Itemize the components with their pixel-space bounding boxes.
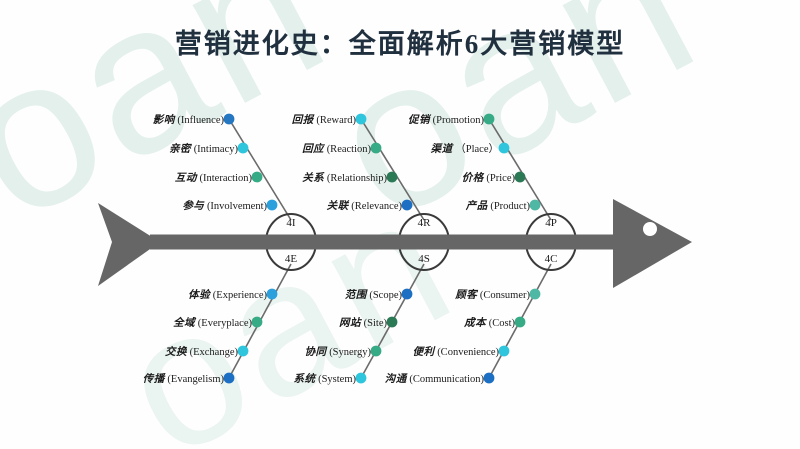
branch-label-en: （Place） — [453, 144, 499, 155]
branch-label-en: (Intimacy) — [191, 144, 238, 155]
branch-dot — [515, 317, 526, 328]
branch-dot — [499, 143, 510, 154]
branch-dot — [371, 346, 382, 357]
branch-label-cn: 产品 — [466, 201, 488, 212]
branch-dot — [267, 289, 278, 300]
node-label-bottom: 4S — [404, 253, 444, 265]
branch-label-en: (Evangelism) — [165, 374, 224, 385]
branch-dot — [224, 114, 235, 125]
node-label-top: 4P — [531, 217, 571, 229]
branch-label-cn: 参与 — [182, 201, 204, 212]
branch-label-en: (Scope) — [367, 290, 402, 301]
branch-dot — [515, 172, 526, 183]
branch-label-en: (Synergy) — [327, 347, 371, 358]
branch-dot — [224, 373, 235, 384]
branch-label-en: (Product) — [488, 201, 530, 212]
branch-label-cn: 互动 — [175, 173, 197, 184]
branch-label: 沟通 (Communication) — [385, 371, 484, 386]
branch-dot — [484, 373, 495, 384]
branch-label-cn: 范围 — [345, 290, 367, 301]
branch-dot — [402, 289, 413, 300]
branch-label-en: (Consumer) — [477, 290, 530, 301]
branch-label-en: (Site) — [361, 318, 387, 329]
branch-label: 系统 (System) — [293, 371, 356, 386]
branch-dot — [238, 143, 249, 154]
node-label-top: 4R — [404, 217, 444, 229]
branch-label-cn: 系统 — [293, 374, 315, 385]
branch-label-en: (Communication) — [407, 374, 484, 385]
branch-label-en: (Interaction) — [197, 173, 252, 184]
branch-label-en: (Reaction) — [324, 144, 371, 155]
fish-head-arrow-icon — [613, 199, 692, 288]
branch-dot — [356, 114, 367, 125]
branch-label-cn: 回报 — [292, 115, 314, 126]
branch-dot — [402, 200, 413, 211]
branch-label-cn: 交换 — [165, 347, 187, 358]
branch-dot — [499, 346, 510, 357]
branch-label: 产品 (Product) — [466, 198, 530, 213]
branch-label-cn: 网站 — [339, 318, 361, 329]
branch-dot — [267, 200, 278, 211]
branch-label: 顾客 (Consumer) — [455, 287, 530, 302]
node-label-bottom: 4C — [531, 253, 571, 265]
branch-label: 范围 (Scope) — [345, 287, 402, 302]
branch-label-cn: 价格 — [462, 173, 484, 184]
branch-label: 影响 (Influence) — [153, 112, 224, 127]
branch-label: 全域 (Everyplace) — [173, 315, 252, 330]
branch-dot — [530, 289, 541, 300]
branch-label: 回报 (Reward) — [292, 112, 356, 127]
branch-label-cn: 关系 — [302, 173, 324, 184]
branch-label-cn: 关联 — [327, 201, 349, 212]
branch-dot — [371, 143, 382, 154]
branch-label-cn: 传播 — [143, 374, 165, 385]
branch-label: 参与 (Involvement) — [182, 198, 267, 213]
branch-label: 成本 (Cost) — [464, 315, 515, 330]
branch-label-cn: 回应 — [302, 144, 324, 155]
branch-dot — [530, 200, 541, 211]
branch-label: 促销 (Promotion) — [408, 112, 484, 127]
branch-label-cn: 协同 — [305, 347, 327, 358]
branch-label: 价格 (Price) — [462, 170, 515, 185]
branch-label-cn: 渠道 — [431, 144, 453, 155]
branch-label-en: (Relevance) — [349, 201, 402, 212]
branch-label-en: (Promotion) — [430, 115, 484, 126]
branch-dot — [356, 373, 367, 384]
branch-label-en: (Relationship) — [324, 173, 387, 184]
branch-label-cn: 体验 — [188, 290, 210, 301]
page-title: 营销进化史：全面解析6大营销模型 — [0, 22, 800, 61]
branch-label: 互动 (Interaction) — [175, 170, 252, 185]
branch-label: 关系 (Relationship) — [302, 170, 387, 185]
branch-label-en: (Convenience) — [435, 347, 499, 358]
branch-label: 网站 (Site) — [339, 315, 387, 330]
branch-label-en: (Cost) — [486, 318, 515, 329]
branch-label: 传播 (Evangelism) — [143, 371, 224, 386]
branch-label: 亲密 (Intimacy) — [169, 141, 238, 156]
branch-label-en: (Experience) — [210, 290, 267, 301]
branch-label-cn: 成本 — [464, 318, 486, 329]
branch-label-en: (Everyplace) — [195, 318, 252, 329]
branch-dot — [387, 317, 398, 328]
branch-label: 交换 (Exchange) — [165, 344, 238, 359]
branch-label-en: (Influence) — [175, 115, 224, 126]
node-label-bottom: 4E — [271, 253, 311, 265]
branch-label-en: (Reward) — [314, 115, 356, 126]
branch-label: 关联 (Relevance) — [327, 198, 402, 213]
branch-dot — [387, 172, 398, 183]
branch-dot — [238, 346, 249, 357]
spine-bar-overlay — [150, 235, 620, 250]
branch-label: 回应 (Reaction) — [302, 141, 371, 156]
branch-label: 体验 (Experience) — [188, 287, 267, 302]
branch-label-cn: 亲密 — [169, 144, 191, 155]
branch-dot — [252, 317, 263, 328]
fish-eye-icon — [643, 222, 657, 236]
branch-label-en: (Exchange) — [187, 347, 238, 358]
branch-label: 便利 (Convenience) — [413, 344, 499, 359]
slide-canvas: oan oan oan 营销进化史：全面解析6大营销模型 影响 (Influen… — [0, 0, 800, 449]
branch-dot — [252, 172, 263, 183]
branch-label-en: (Involvement) — [204, 201, 267, 212]
branch-label-cn: 顾客 — [455, 290, 477, 301]
branch-label-cn: 影响 — [153, 115, 175, 126]
node-label-top: 4I — [271, 217, 311, 229]
branch-label-cn: 促销 — [408, 115, 430, 126]
branch-label-cn: 便利 — [413, 347, 435, 358]
branch-label-en: (System) — [315, 374, 356, 385]
branch-label: 渠道 （Place） — [431, 141, 499, 156]
branch-label-en: (Price) — [484, 173, 515, 184]
branch-dot — [484, 114, 495, 125]
branch-label-cn: 沟通 — [385, 374, 407, 385]
branch-label: 协同 (Synergy) — [305, 344, 371, 359]
branch-label-cn: 全域 — [173, 318, 195, 329]
